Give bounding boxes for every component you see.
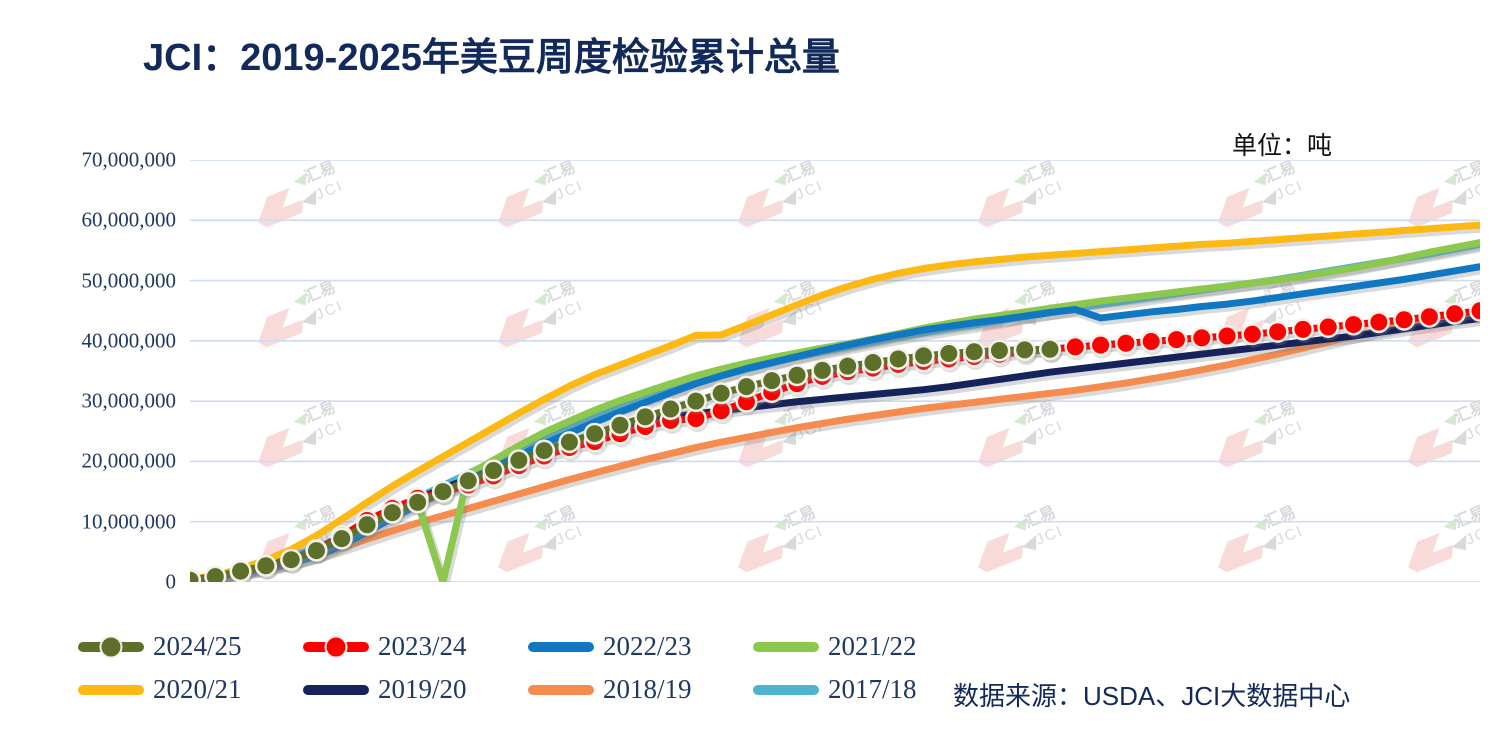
legend-row-top: 2024/252023/242022/232021/22 — [78, 625, 978, 668]
legend-item-label: 2018/19 — [603, 676, 692, 703]
y-axis-tick-label: 70,000,000 — [16, 148, 176, 173]
legend-swatch-icon — [528, 642, 594, 652]
legend-item-2022-23[interactable]: 2022/23 — [528, 625, 753, 668]
source-note: 数据来源：USDA、JCI大数据中心 — [953, 676, 1350, 713]
plot-area: 汇易JCI — [190, 160, 1480, 582]
unit-label: 单位：吨 — [1232, 126, 1332, 162]
y-axis-tick-label: 50,000,000 — [16, 268, 176, 293]
legend-item-2017-18[interactable]: 2017/18 — [753, 668, 978, 711]
legend-item-label: 2019/20 — [378, 676, 467, 703]
y-axis-tick-label: 60,000,000 — [16, 208, 176, 233]
chart-legend: 2024/252023/242022/232021/22 2020/212019… — [78, 625, 978, 711]
legend-item-2020-21[interactable]: 2020/21 — [78, 668, 303, 711]
legend-swatch-icon — [753, 642, 819, 652]
legend-item-2018-19[interactable]: 2018/19 — [528, 668, 753, 711]
y-axis-tick-label: 10,000,000 — [16, 509, 176, 534]
legend-swatch-icon — [78, 685, 144, 695]
page-title: JCI：2019-2025年美豆周度检验累计总量 — [143, 26, 840, 81]
legend-item-label: 2020/21 — [153, 676, 242, 703]
legend-item-label: 2017/18 — [828, 676, 917, 703]
y-axis-tick-label: 0 — [16, 570, 176, 595]
legend-item-label: 2023/24 — [378, 633, 467, 660]
y-axis-tick-label: 40,000,000 — [16, 328, 176, 353]
legend-item-label: 2024/25 — [153, 633, 242, 660]
legend-swatch-icon — [303, 685, 369, 695]
legend-row-bottom: 2020/212019/202018/192017/18 — [78, 668, 978, 711]
legend-item-label: 2022/23 — [603, 633, 692, 660]
legend-item-label: 2021/22 — [828, 633, 917, 660]
chart-plot-svg: 汇易JCI — [190, 160, 1480, 582]
chart-container: JCI：2019-2025年美豆周度检验累计总量 单位：吨 70,000,000… — [0, 0, 1509, 749]
y-axis-tick-label: 30,000,000 — [16, 389, 176, 414]
legend-swatch-icon — [303, 642, 369, 652]
legend-item-2023-24[interactable]: 2023/24 — [303, 625, 528, 668]
legend-item-2024-25[interactable]: 2024/25 — [78, 625, 303, 668]
legend-swatch-icon — [753, 685, 819, 695]
legend-item-2021-22[interactable]: 2021/22 — [753, 625, 978, 668]
legend-swatch-icon — [528, 685, 594, 695]
legend-swatch-icon — [78, 642, 144, 652]
y-axis-tick-label: 20,000,000 — [16, 449, 176, 474]
series-markers-2024-25 — [190, 338, 1063, 582]
legend-item-2019-20[interactable]: 2019/20 — [303, 668, 528, 711]
